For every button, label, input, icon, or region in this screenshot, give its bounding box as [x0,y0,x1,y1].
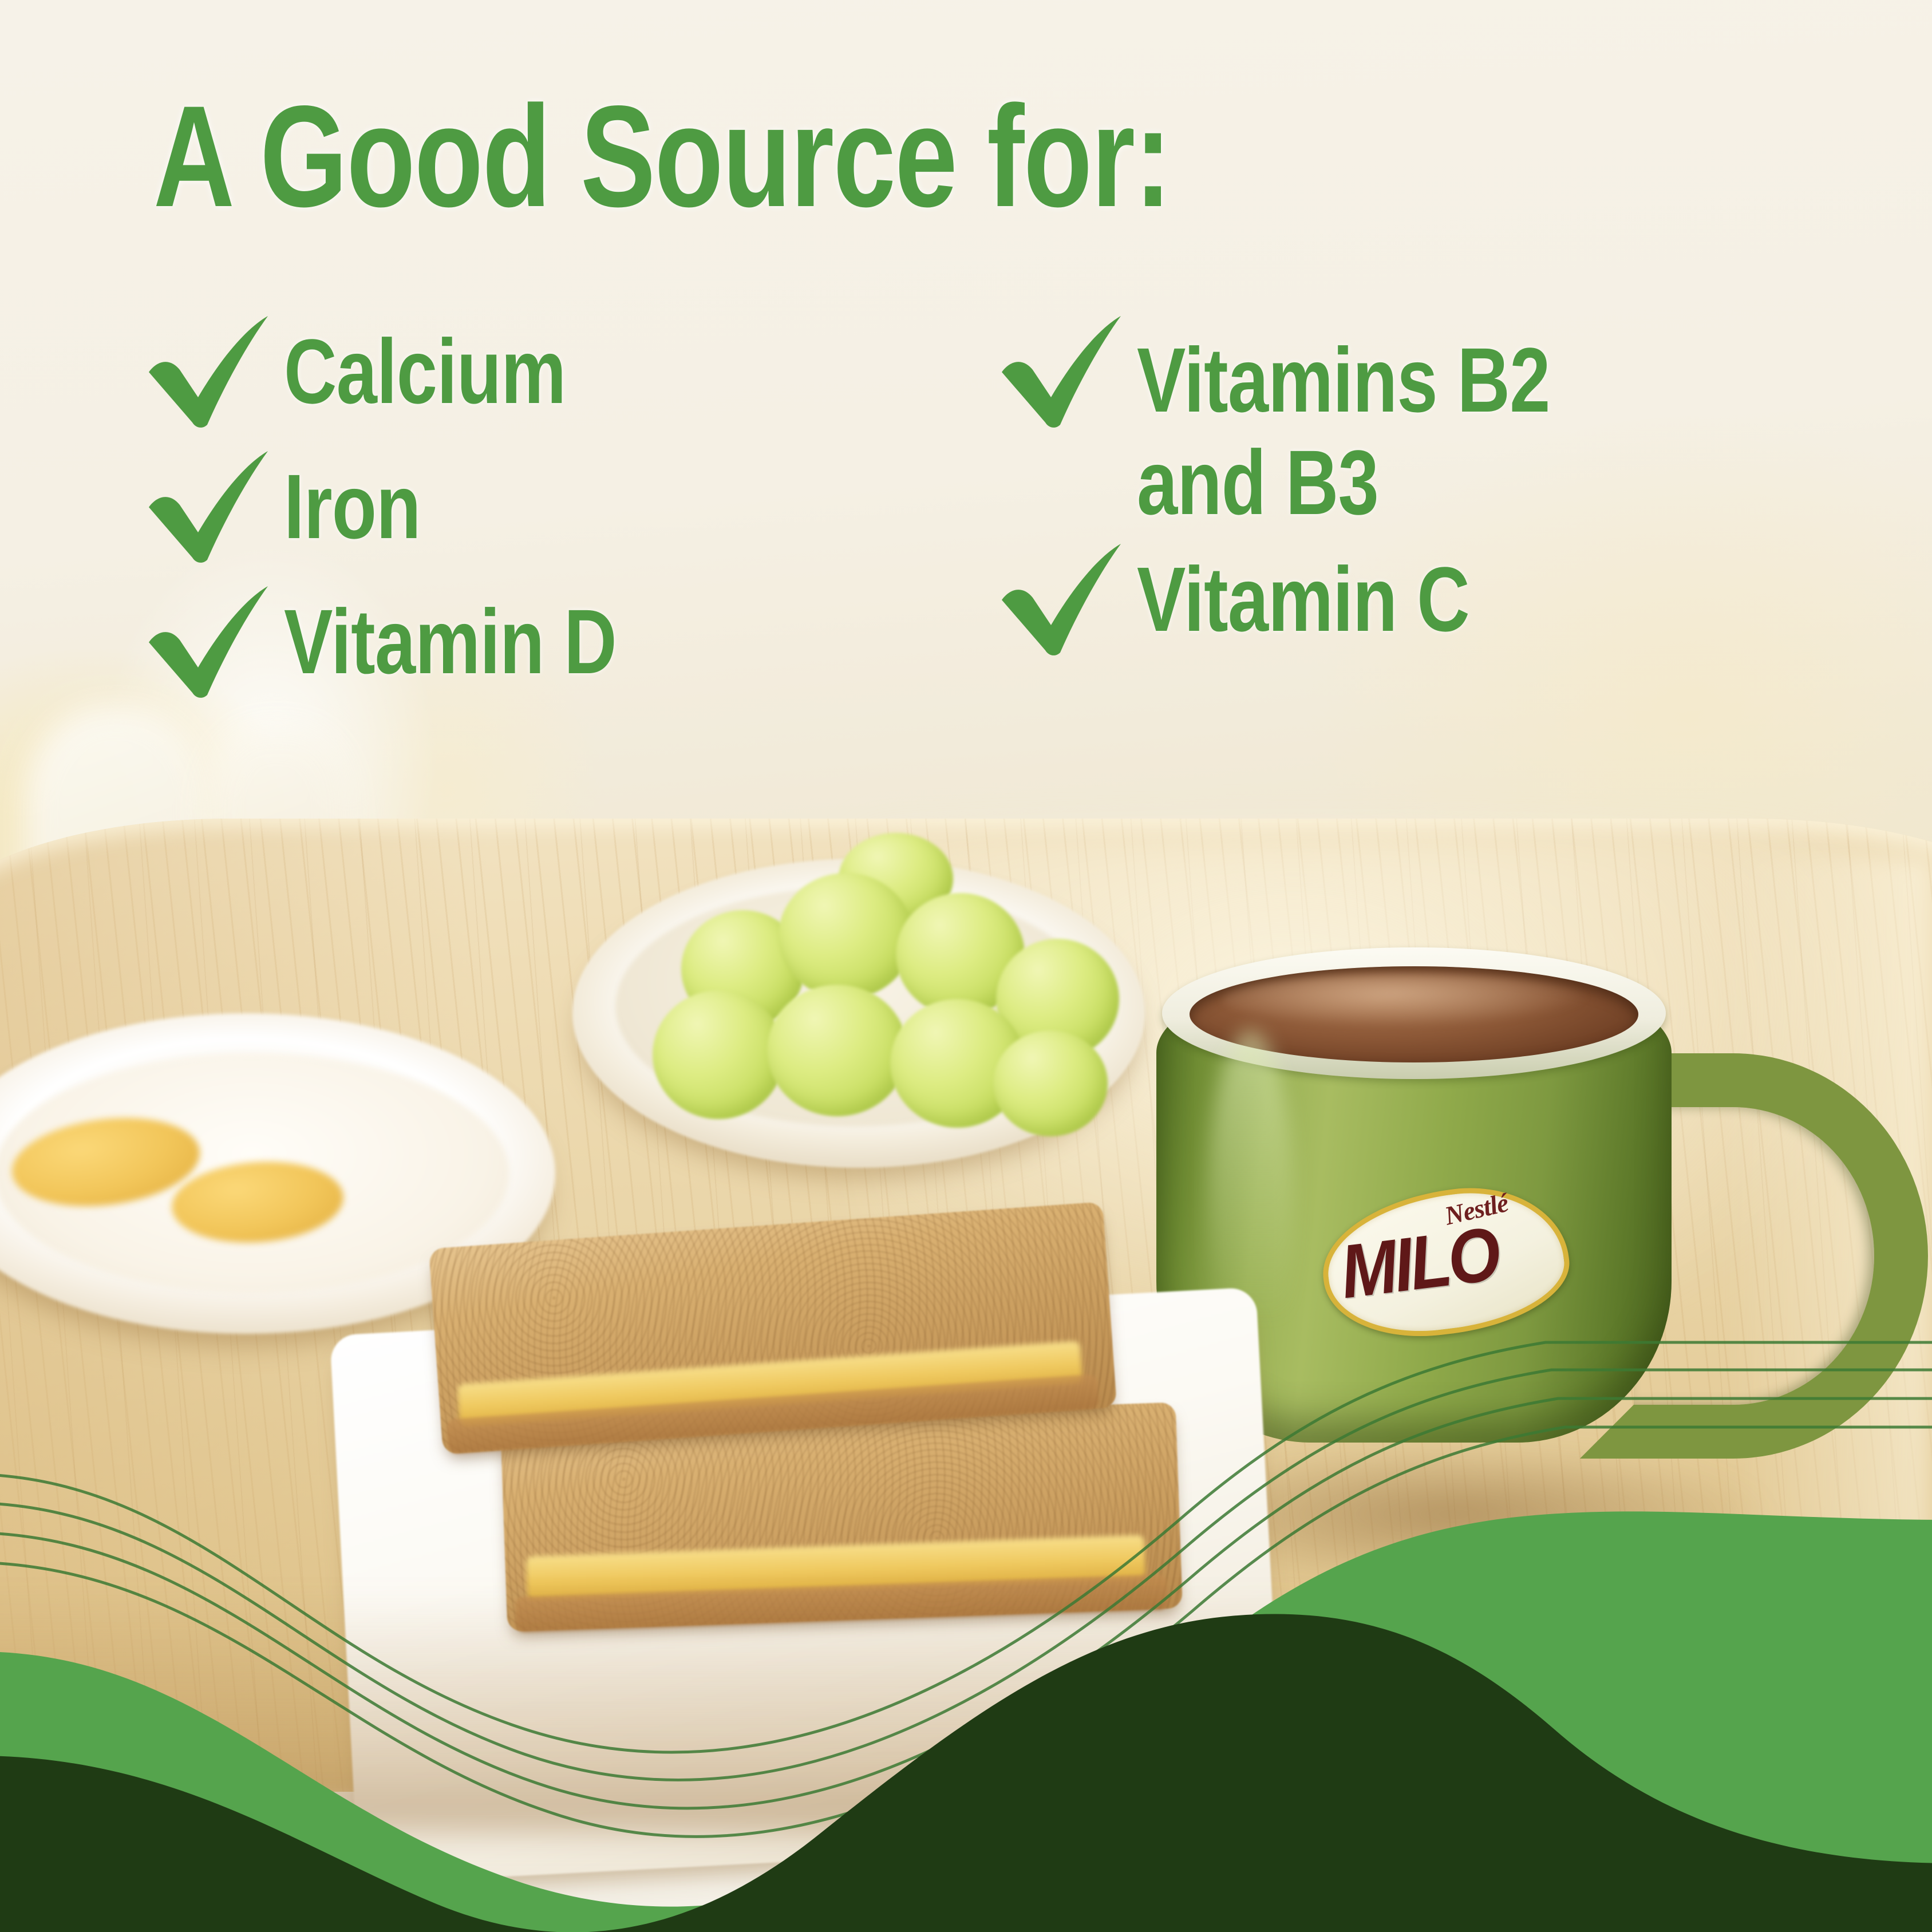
copy-overlay: A Good Source for: Calcium Iron [0,0,1932,1932]
list-item: Vitamins B2 and B3 [996,314,1786,534]
checkmark-icon [143,310,275,430]
list-item: Vitamin D [143,584,904,704]
list-item-label: Calcium [284,314,566,414]
benefits-column-right: Vitamins B2 and B3 Vitamin C [996,314,1786,719]
list-item-label: Iron [284,449,421,550]
page-title: A Good Source for: [153,85,1171,229]
list-item-label: Vitamin C [1137,542,1469,642]
list-item-label: Vitamin D [284,584,617,685]
checkmark-icon [996,310,1128,430]
checkmark-icon [996,538,1128,658]
milo-nutrition-poster: Nestlé MILO A Good Source for: [0,0,1932,1932]
checkmark-icon [143,445,275,566]
benefits-column-left: Calcium Iron Vitamin D [143,314,904,719]
benefits-list: Calcium Iron Vitamin D [143,314,1792,719]
checkmark-icon [143,580,275,701]
list-item: Calcium [143,314,904,434]
list-item-label: Vitamins B2 and B3 [1137,314,1550,534]
list-item: Vitamin C [996,542,1786,662]
list-item: Iron [143,449,904,569]
